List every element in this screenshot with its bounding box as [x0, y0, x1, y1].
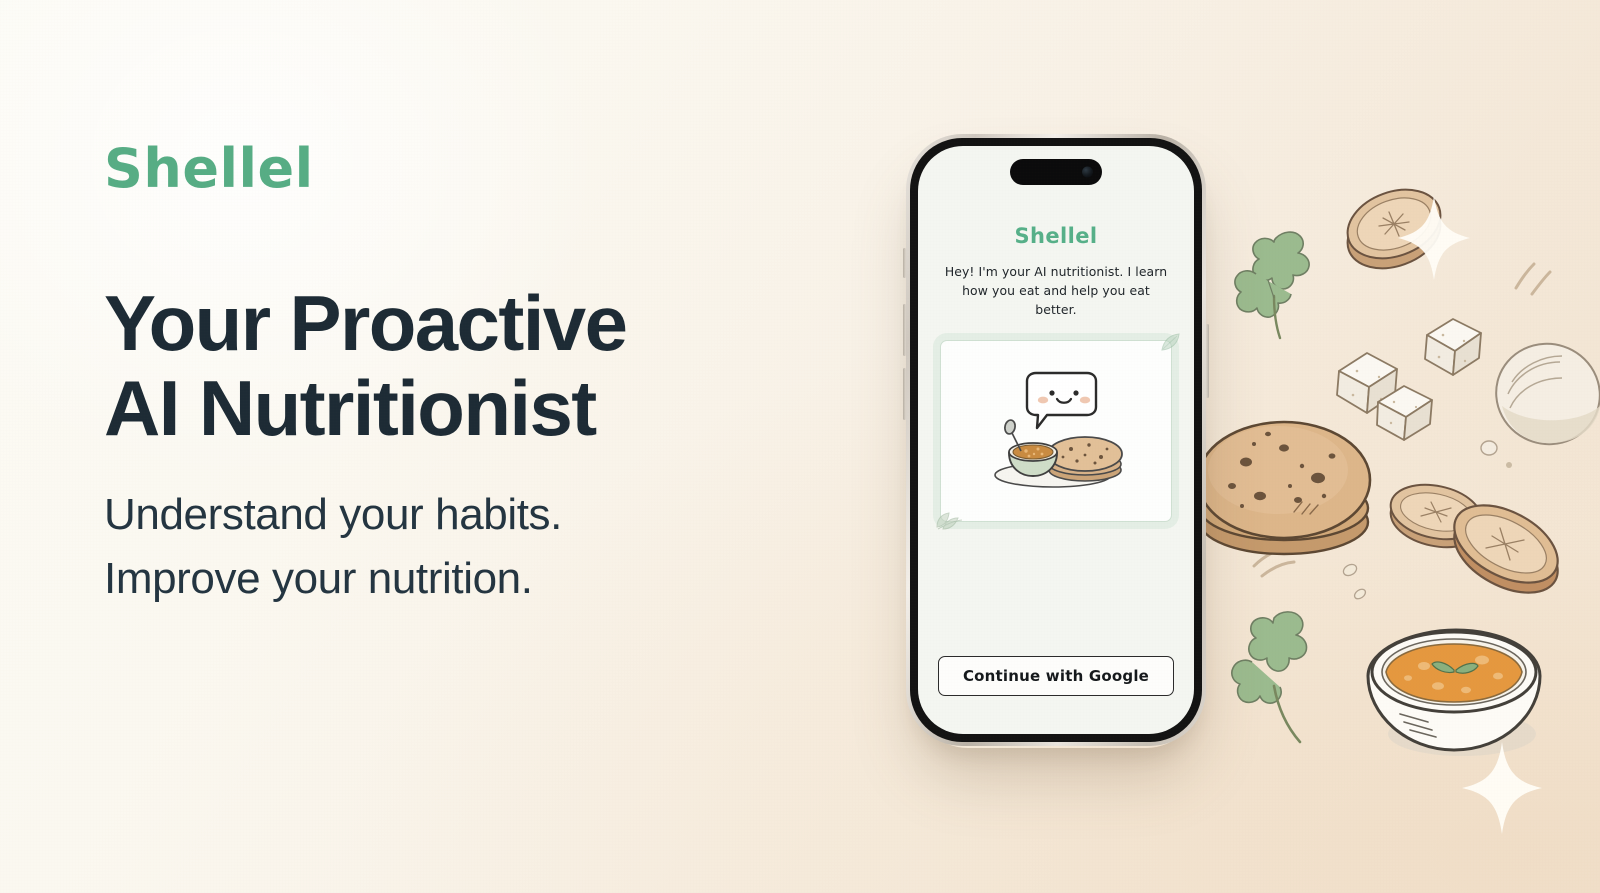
phone-bezel: Shellel Hey! I'm your AI nutritionist. I…	[910, 138, 1202, 742]
page-title: Your Proactive AI Nutritionist	[104, 281, 804, 451]
phone-volume-up-button[interactable]	[903, 304, 906, 356]
phone-action-button[interactable]	[903, 248, 906, 278]
bread-slice-lower-icon	[1442, 488, 1570, 604]
motion-dashes-right-icon	[1510, 258, 1554, 300]
page-subtitle: Understand your habits. Improve your nut…	[104, 483, 804, 611]
subhead-line-2: Improve your nutrition.	[104, 547, 804, 611]
card-bottom-leaf-icon	[933, 509, 963, 531]
app-onboarding-screen: Shellel Hey! I'm your AI nutritionist. I…	[918, 146, 1194, 734]
app-brand-logo: Shellel	[1015, 224, 1098, 248]
app-intro-text: Hey! I'm your AI nutritionist. I learn h…	[941, 262, 1171, 320]
headline-line-1: Your Proactive	[104, 281, 804, 366]
phone-power-button[interactable]	[1206, 324, 1209, 398]
hero-copy-block: Shellel Your Proactive AI Nutritionist U…	[104, 142, 804, 611]
soup-bowl-icon	[1356, 610, 1552, 776]
food-mascot-illustration	[981, 371, 1131, 491]
continue-with-google-button[interactable]: Continue with Google	[938, 656, 1174, 696]
continue-with-google-label: Continue with Google	[963, 667, 1149, 685]
tofu-cube-right-icon	[1419, 313, 1489, 381]
sparkle-bottom-icon	[1462, 742, 1542, 834]
phone-frame: Shellel Hey! I'm your AI nutritionist. I…	[906, 134, 1206, 746]
card-corner-leaf-icon	[1160, 332, 1180, 352]
headline-line-2: AI Nutritionist	[104, 366, 804, 451]
flatbread-stack-icon	[1198, 400, 1382, 564]
illustration-card	[940, 340, 1172, 522]
phone-screen: Shellel Hey! I'm your AI nutritionist. I…	[918, 146, 1194, 734]
bread-slice-mid-icon	[1383, 474, 1489, 554]
sparkle-top-icon	[1398, 196, 1470, 280]
cilantro-sprig-top-icon	[1218, 218, 1330, 340]
motion-dashes-left-icon	[1250, 540, 1306, 582]
empty-bowl-right-icon	[1488, 332, 1600, 458]
seed-single-icon	[1340, 560, 1370, 604]
hero-banner: Shellel Your Proactive AI Nutritionist U…	[0, 0, 1600, 893]
tofu-cube-left-icon	[1331, 347, 1405, 419]
phone-mockup: Shellel Hey! I'm your AI nutritionist. I…	[906, 134, 1206, 746]
brand-logo: Shellel	[104, 142, 804, 196]
bread-slice-top-icon	[1339, 178, 1449, 276]
subhead-line-1: Understand your habits.	[104, 483, 804, 547]
cilantro-sprig-bottom-icon	[1212, 600, 1328, 752]
seed-specks-icon	[1478, 436, 1522, 476]
tofu-cube-bottom-icon	[1372, 380, 1438, 446]
phone-volume-down-button[interactable]	[903, 368, 906, 420]
